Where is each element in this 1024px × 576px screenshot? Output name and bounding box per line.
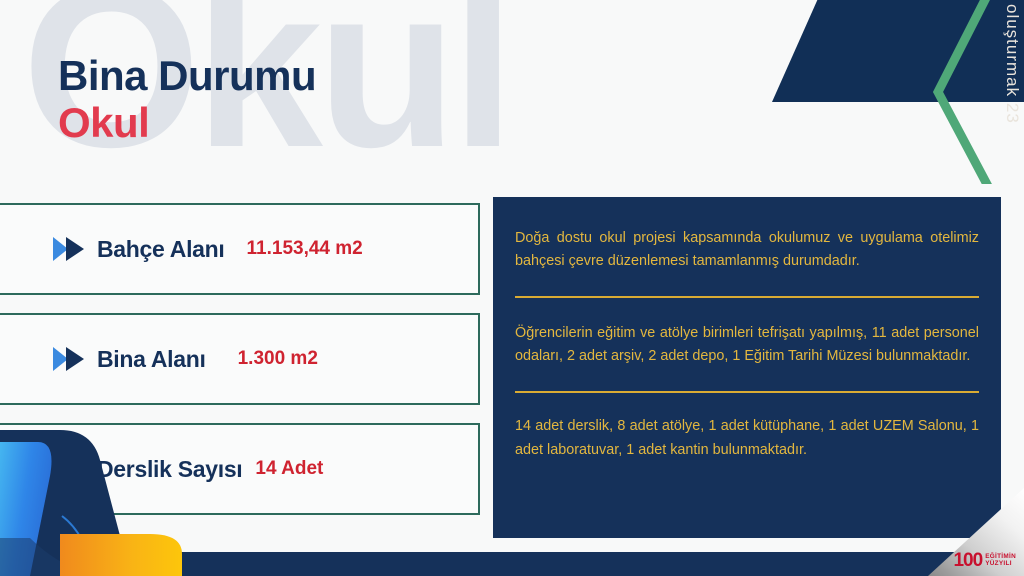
panel-divider — [515, 296, 979, 299]
vertical-tag-text: oluşturmak 23 — [1002, 4, 1022, 124]
info-panel: Doğa dostu okul projesi kapsamında okulu… — [493, 197, 1001, 538]
logo-number: 100 — [953, 551, 982, 570]
stat-value: 14 Adet — [255, 458, 323, 480]
panel-paragraph-2: Öğrencilerin eğitim ve atölye birimleri … — [515, 322, 979, 369]
panel-paragraph-1: Doğa dostu okul projesi kapsamında okulu… — [515, 227, 979, 274]
stat-label: Derslik Sayısı — [97, 456, 242, 483]
list-item[interactable]: Derslik Sayısı 14 Adet — [0, 423, 480, 515]
title-main: Bina Durumu — [58, 52, 316, 99]
panel-divider — [515, 391, 979, 394]
stat-label: Bina Alanı — [97, 346, 206, 373]
stat-label: Bahçe Alanı — [97, 236, 225, 263]
stat-value: 1.300 m2 — [238, 348, 318, 370]
logo-text: EĞİTİMİN YÜZYILI — [985, 554, 1016, 568]
green-chevron-icon — [920, 0, 994, 184]
stat-value: 11.153,44 m2 — [247, 238, 363, 260]
title-subtitle: Okul — [58, 99, 316, 146]
play-triangle-icon — [52, 235, 86, 263]
page-title: Bina Durumu Okul — [58, 52, 316, 146]
stats-list: Bahçe Alanı 11.153,44 m2 Bina Alanı 1.30… — [0, 203, 480, 533]
presentation-slide: Okul oluşturmak 23 Bina Durumu Okul Bahç… — [0, 0, 1024, 576]
play-triangle-icon — [52, 455, 86, 483]
bottom-navy-bar — [130, 552, 1024, 576]
logo-line-2: YÜZYILI — [985, 561, 1016, 568]
list-item[interactable]: Bahçe Alanı 11.153,44 m2 — [0, 203, 480, 295]
panel-paragraph-3: 14 adet derslik, 8 adet atölye, 1 adet k… — [515, 415, 979, 462]
list-item[interactable]: Bina Alanı 1.300 m2 — [0, 313, 480, 405]
play-triangle-icon — [52, 345, 86, 373]
centennial-logo: 100 EĞİTİMİN YÜZYILI — [953, 551, 1016, 570]
